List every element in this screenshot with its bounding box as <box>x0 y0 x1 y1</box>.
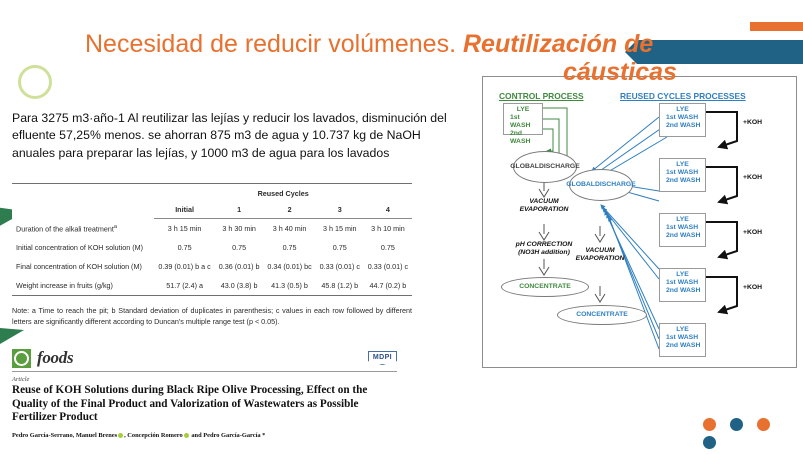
cell-r3c0: 51.7 (2.4) a <box>154 276 215 296</box>
cell-r2c3: 0.33 (0.01) c <box>316 257 364 276</box>
table-head: Reused Cycles Initial 1 2 3 4 <box>12 184 412 219</box>
cell-r2c4: 0.33 (0.01) c <box>364 257 412 276</box>
reused-lye-label: LYE <box>660 216 705 224</box>
table-column-header-row: Initial 1 2 3 4 <box>12 201 412 219</box>
title-normal-part: Necesidad de reducir volúmenes. <box>85 30 463 58</box>
cell-r3c2: 41.3 (0.5) b <box>263 276 315 296</box>
slide-canvas: Necesidad de reducir volúmenes. Reutiliz… <box>0 0 803 450</box>
table-note: Note: a Time to reach the pit; b Standar… <box>12 305 412 327</box>
authors-part-1: Pedro García-Serrano, Manuel Brenes <box>12 432 117 439</box>
table-rowlabel-header <box>12 201 154 219</box>
reused-lye-box-5: LYE 1st WASH 2nd WASH <box>659 323 706 357</box>
table-col-header-1: 1 <box>215 201 264 219</box>
row-label-superscript: a <box>114 224 117 230</box>
koh-label-1: +KOH <box>743 119 762 126</box>
foods-mark-icon <box>12 349 31 368</box>
row-label-weight: Weight increase in fruits (g/kg) <box>12 276 154 296</box>
cell-r1c4: 0.75 <box>364 238 412 257</box>
orcid-icon <box>118 433 123 438</box>
cell-r3c1: 43.0 (3.8) b <box>215 276 264 296</box>
authors-part-2: , Concepción Romero <box>124 432 183 439</box>
table-col-header-initial: Initial <box>154 201 215 219</box>
process-diagram-figure: CONTROL PROCESS REUSED CYCLES PROCESSES … <box>482 76 797 368</box>
diagram-reused-title: REUSED CYCLES PROCESSES <box>620 91 746 101</box>
cell-r0c3: 3 h 15 min <box>316 219 364 239</box>
mdpi-logo: MDPI <box>368 351 397 365</box>
koh-label-4: +KOH <box>743 284 762 291</box>
cell-r1c1: 0.75 <box>215 238 264 257</box>
table-row: Final concentration of KOH solution (M) … <box>12 257 412 276</box>
cell-r1c0: 0.75 <box>154 238 215 257</box>
process-diagram-inner: CONTROL PROCESS REUSED CYCLES PROCESSES … <box>487 81 792 363</box>
table-col-header-2: 2 <box>263 201 315 219</box>
article-authors: Pedro García-Serrano, Manuel Brenes, Con… <box>12 432 397 439</box>
reused-wash2-label: 2nd WASH <box>660 177 705 185</box>
decor-dot-2 <box>730 418 743 431</box>
row-label-duration: Duration of the alkali treatmenta <box>12 219 154 239</box>
foods-ring-icon <box>14 351 29 366</box>
reused-global-discharge: GLOBAL DISCHARGE <box>569 169 633 201</box>
cell-r2c1: 0.36 (0.01) b <box>215 257 264 276</box>
cell-r2c2: 0.34 (0.01) bc <box>263 257 315 276</box>
reused-wash2-label: 2nd WASH <box>660 342 705 350</box>
reused-concentrate: CONCENTRATE <box>557 305 647 325</box>
koh-label-3: +KOH <box>743 229 762 236</box>
control-gd-line2: DISCHARGE <box>539 163 580 171</box>
article-title: Reuse of KOH Solutions during Black Ripe… <box>12 384 397 425</box>
reused-lye-box-4: LYE 1st WASH 2nd WASH <box>659 268 706 302</box>
cell-r3c3: 45.8 (1.2) b <box>316 276 364 296</box>
control-global-discharge: GLOBAL DISCHARGE <box>513 151 577 183</box>
koh-label-2: +KOH <box>743 174 762 181</box>
reused-wash1-label: 1st WASH <box>660 279 705 287</box>
decor-dot-1 <box>703 418 716 431</box>
reused-lye-label: LYE <box>660 271 705 279</box>
table-row: Duration of the alkali treatmenta 3 h 15… <box>12 219 412 239</box>
reused-wash2-label: 2nd WASH <box>660 287 705 295</box>
reused-lye-box-2: LYE 1st WASH 2nd WASH <box>659 158 706 192</box>
table-body: Duration of the alkali treatmenta 3 h 15… <box>12 219 412 296</box>
reused-vacuum-evap: VACUUM EVAPORATION <box>561 247 639 263</box>
control-lye-label: LYE <box>504 106 542 114</box>
decor-orange-bar <box>750 22 803 31</box>
control-concentrate: CONCENTRATE <box>501 277 589 297</box>
reused-wash1-label: 1st WASH <box>660 334 705 342</box>
table-row: Initial concentration of KOH solution (M… <box>12 238 412 257</box>
authors-part-3: and Pedro García-García * <box>190 432 266 439</box>
reused-wash1-label: 1st WASH <box>660 114 705 122</box>
reused-vacuum-line2: EVAPORATION <box>576 255 625 262</box>
table-col-header-3: 3 <box>316 201 364 219</box>
table-row: Weight increase in fruits (g/kg) 51.7 (2… <box>12 276 412 296</box>
cell-r0c0: 3 h 15 min <box>154 219 215 239</box>
results-table-container: Reused Cycles Initial 1 2 3 4 Duration o… <box>12 183 412 296</box>
reused-lye-box-3: LYE 1st WASH 2nd WASH <box>659 213 706 247</box>
cell-r0c2: 3 h 40 min <box>263 219 315 239</box>
reused-wash1-label: 1st WASH <box>660 169 705 177</box>
reused-wash1-label: 1st WASH <box>660 224 705 232</box>
control-vacuum-line1: VACUUM <box>529 198 558 205</box>
control-wash1-label: 1st WASH <box>504 114 542 130</box>
row-label-text: Duration of the alkali treatment <box>16 224 114 233</box>
decor-dot-4 <box>703 436 716 449</box>
control-vacuum-evap: VACUUM EVAPORATION <box>505 198 583 214</box>
row-label-initial-conc: Initial concentration of KOH solution (M… <box>12 238 154 257</box>
cell-r3c4: 44.7 (0.2) b <box>364 276 412 296</box>
decor-dot-3 <box>757 418 770 431</box>
journal-logo-row: foods MDPI <box>12 348 397 368</box>
journal-divider <box>12 371 397 372</box>
control-lye-box: LYE 1st WASH 2nd WASH <box>503 103 543 135</box>
decor-blue-chevron <box>625 40 803 64</box>
table-col-header-4: 4 <box>364 201 412 219</box>
row-label-final-conc: Final concentration of KOH solution (M) <box>12 257 154 276</box>
decor-dot-row <box>703 418 798 432</box>
article-kind: Article <box>12 376 397 383</box>
reused-vacuum-line1: VACUUM <box>585 247 614 254</box>
diagram-control-title: CONTROL PROCESS <box>499 91 584 101</box>
control-wash2-label: 2nd WASH <box>504 130 542 146</box>
foods-logo: foods <box>12 348 73 368</box>
control-vacuum-line2: EVAPORATION <box>520 206 569 213</box>
journal-name: foods <box>37 348 73 368</box>
cell-r0c1: 3 h 30 min <box>215 219 264 239</box>
decor-green-ring-icon <box>18 65 52 99</box>
reused-lye-label: LYE <box>660 106 705 114</box>
reused-lye-box-1: LYE 1st WASH 2nd WASH <box>659 103 706 137</box>
cell-r0c4: 3 h 10 min <box>364 219 412 239</box>
table-corner-blank <box>12 184 154 202</box>
orcid-icon <box>184 433 189 438</box>
reused-gd-line2: DISCHARGE <box>595 181 636 189</box>
reused-wash2-label: 2nd WASH <box>660 122 705 130</box>
results-table: Reused Cycles Initial 1 2 3 4 Duration o… <box>12 183 412 296</box>
cell-r1c3: 0.75 <box>316 238 364 257</box>
reused-wash2-label: 2nd WASH <box>660 232 705 240</box>
journal-article-header: foods MDPI Article Reuse of KOH Solution… <box>12 348 397 439</box>
reused-lye-label: LYE <box>660 326 705 334</box>
reused-lye-label: LYE <box>660 161 705 169</box>
cell-r2c0: 0.39 (0.01) b a c <box>154 257 215 276</box>
control-gd-line1: GLOBAL <box>510 163 539 171</box>
table-group-header: Reused Cycles <box>154 184 412 202</box>
body-paragraph: Para 3275 m3·año-1 Al reutilizar las lej… <box>12 110 462 162</box>
title-emphasis-part: Reutilización de <box>463 30 653 58</box>
reused-gd-line1: GLOBAL <box>566 181 595 189</box>
table-group-header-row: Reused Cycles <box>12 184 412 202</box>
cell-r1c2: 0.75 <box>263 238 315 257</box>
